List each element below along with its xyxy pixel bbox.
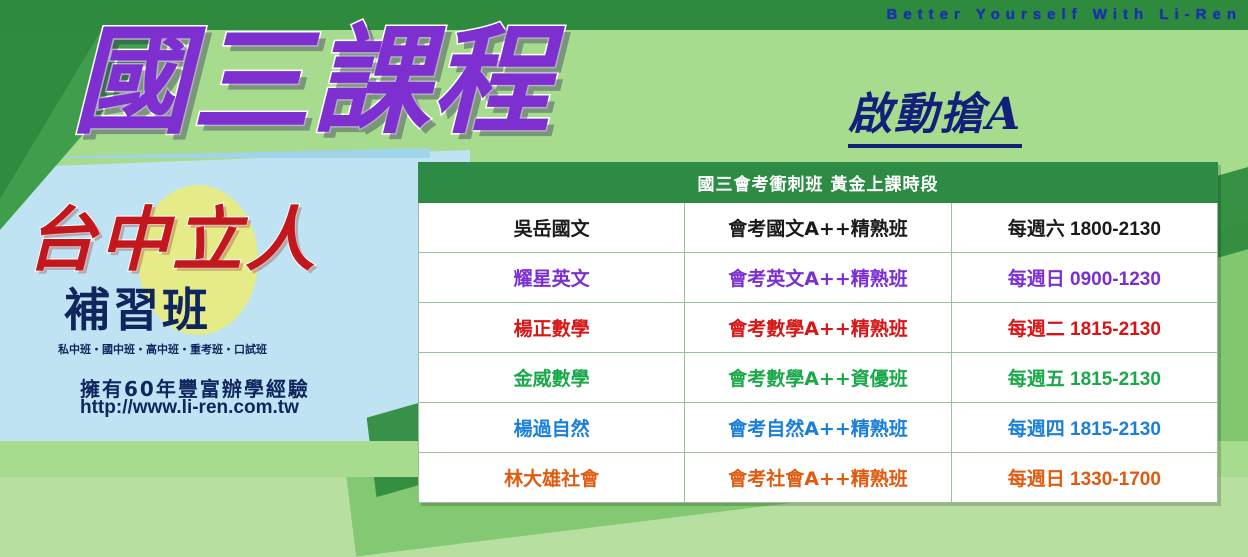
cell-teacher: 楊過自然 [419,403,685,453]
table-header-row: 國三會考衝刺班 黃金上課時段 [419,163,1218,203]
cell-time: 每週日 1330-1700 [951,453,1217,503]
logo-name: 台中立人 [26,205,318,275]
cell-course: 會考數學A++精熟班 [685,303,951,353]
cell-course: 會考數學A++資優班 [685,353,951,403]
cell-course: 會考社會A++精熟班 [685,453,951,503]
table-row: 耀星英文會考英文A++精熟班每週日 0900-1230 [419,253,1218,303]
cell-course: 會考國文A++精熟班 [685,203,951,253]
cell-teacher: 耀星英文 [419,253,685,303]
cell-course: 會考自然A++精熟班 [685,403,951,453]
page-subtitle: 啟動搶A [848,78,1022,148]
cell-teacher: 吳岳國文 [419,203,685,253]
table-row: 楊正數學會考數學A++精熟班每週二 1815-2130 [419,303,1218,353]
logo-name-sub: 補習班 [64,287,211,333]
logo-website-url[interactable]: http://www.li-ren.com.tw [80,397,299,419]
table-row: 楊過自然會考自然A++精熟班每週四 1815-2130 [419,403,1218,453]
logo-class-list: 私中班・國中班・高中班・重考班・口試班 [58,341,267,357]
cell-teacher: 林大雄社會 [419,453,685,503]
cell-time: 每週二 1815-2130 [951,303,1217,353]
cell-teacher: 金威數學 [419,353,685,403]
schedule-table-wrapper: 國三會考衝刺班 黃金上課時段 吳岳國文會考國文A++精熟班每週六 1800-21… [418,162,1218,503]
logo: 台中立人 補習班 私中班・國中班・高中班・重考班・口試班 擁有60年豐富辦學經驗… [18,195,368,425]
cell-time: 每週日 0900-1230 [951,253,1217,303]
cell-course: 會考英文A++精熟班 [685,253,951,303]
table-row: 吳岳國文會考國文A++精熟班每週六 1800-2130 [419,203,1218,253]
cell-time: 每週六 1800-2130 [951,203,1217,253]
cell-time: 每週五 1815-2130 [951,353,1217,403]
table-row: 林大雄社會會考社會A++精熟班每週日 1330-1700 [419,453,1218,503]
table-header-cell: 國三會考衝刺班 黃金上課時段 [419,163,1218,203]
cell-time: 每週四 1815-2130 [951,403,1217,453]
page-title: 國三課程 [72,22,552,140]
cell-teacher: 楊正數學 [419,303,685,353]
table-row: 金威數學會考數學A++資優班每週五 1815-2130 [419,353,1218,403]
schedule-table: 國三會考衝刺班 黃金上課時段 吳岳國文會考國文A++精熟班每週六 1800-21… [418,162,1218,503]
